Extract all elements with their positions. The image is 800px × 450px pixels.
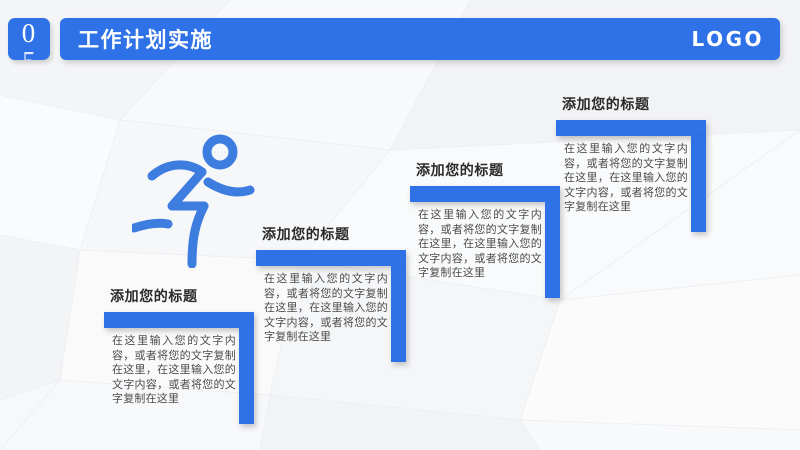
logo: LOGO [692,27,764,51]
step-title-4: 添加您的标题 [556,94,706,114]
step-block-4[interactable]: 添加您的标题 在这里输入您的文字内容，或者将您的文字复制在这里，在这里输入您的文… [556,94,706,232]
bracket-top-bar [256,250,406,266]
step-bracket-3: 在这里输入您的文字内容，或者将您的文字复制在这里，在这里输入您的文字内容，或者将… [410,186,560,298]
slide-canvas: 0 5 工作计划实施 LOGO 添加您的标题 在这里输入您的文字内容，或者将您的… [0,0,800,450]
step-title-1: 添加您的标题 [104,286,254,306]
bracket-right-bar [691,136,706,232]
section-number-badge: 0 5 [8,18,50,60]
step-title-3: 添加您的标题 [410,160,560,180]
step-block-3[interactable]: 添加您的标题 在这里输入您的文字内容，或者将您的文字复制在这里，在这里输入您的文… [410,160,560,298]
bracket-top-bar [556,120,706,136]
step-bracket-2: 在这里输入您的文字内容，或者将您的文字复制在这里，在这里输入您的文字内容，或者将… [256,250,406,362]
step-block-1[interactable]: 添加您的标题 在这里输入您的文字内容，或者将您的文字复制在这里，在这里输入您的文… [104,286,254,424]
bracket-top-bar [410,186,560,202]
step-block-2[interactable]: 添加您的标题 在这里输入您的文字内容，或者将您的文字复制在这里，在这里输入您的文… [256,224,406,362]
bracket-top-bar [104,312,254,328]
step-body-4: 在这里输入您的文字内容，或者将您的文字复制在这里，在这里输入您的文字内容，或者将… [564,142,688,215]
page-title: 工作计划实施 [78,24,213,54]
running-person-icon [132,132,258,268]
bracket-right-bar [391,266,406,362]
step-bracket-4: 在这里输入您的文字内容，或者将您的文字复制在这里，在这里输入您的文字内容，或者将… [556,120,706,232]
step-body-2: 在这里输入您的文字内容，或者将您的文字复制在这里，在这里输入您的文字内容，或者将… [264,272,388,345]
section-number-bottom: 5 [8,46,50,60]
step-body-1: 在这里输入您的文字内容，或者将您的文字复制在这里，在这里输入您的文字内容，或者将… [112,334,236,407]
bracket-right-bar [239,328,254,424]
title-bar: 工作计划实施 LOGO [60,18,780,60]
step-body-3: 在这里输入您的文字内容，或者将您的文字复制在这里，在这里输入您的文字内容，或者将… [418,208,542,281]
step-title-2: 添加您的标题 [256,224,406,244]
step-bracket-1: 在这里输入您的文字内容，或者将您的文字复制在这里，在这里输入您的文字内容，或者将… [104,312,254,424]
